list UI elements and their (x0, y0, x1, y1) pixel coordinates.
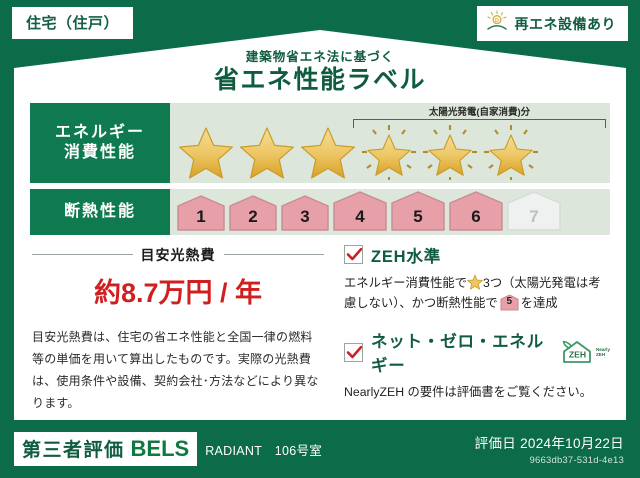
insulation-grade-badge: 3 (280, 194, 330, 232)
insulation-grade-value: 1 (196, 207, 205, 232)
bels-en-text: BELS (131, 436, 190, 462)
footer-right: 評価日 2024年10月22日 9663db37-531d-4e13 (475, 432, 624, 466)
lower-content: 目安光熱費 約8.7万円 / 年 目安光熱費は、住宅の省エネ性能と全国一律の燃料… (30, 243, 610, 415)
renewable-equipment-label: 再エネ設備あり (515, 14, 617, 34)
zeh-desc-part1: エネルギー消費性能で (344, 276, 467, 290)
svg-text:D: D (495, 18, 499, 24)
energy-performance-row: エネルギー 消費性能 太陽光発電(自家消費)分 (30, 103, 610, 183)
checkbox-checked-icon[interactable] (344, 245, 363, 264)
energy-star-rating (176, 123, 606, 181)
energy-performance-label-line1: エネルギー (55, 123, 145, 143)
evaluation-id: 9663db37-531d-4e13 (475, 455, 624, 466)
insulation-performance-value: 1 2 3 4 (170, 189, 610, 235)
insulation-grade-badge: 2 (228, 194, 278, 232)
sun-icon: D (485, 10, 509, 37)
star-solar (359, 123, 419, 181)
star-filled (176, 123, 236, 181)
insulation-grade-badge: 4 (332, 190, 388, 232)
insulation-grade-scale: 1 2 3 4 (176, 190, 562, 232)
utility-cost-value: 約8.7万円 / 年 (32, 271, 324, 310)
insulation-grade-value: 3 (300, 207, 309, 232)
inline-star-icon (467, 274, 483, 290)
star-filled (237, 123, 297, 181)
insulation-performance-label: 断熱性能 (30, 189, 170, 235)
insulation-grade-value: 6 (471, 207, 480, 232)
energy-performance-label-line2: 消費性能 (64, 143, 136, 163)
zeh-desc-part3: を達成 (521, 296, 558, 310)
star-solar (481, 123, 541, 181)
insulation-performance-row: 断熱性能 1 2 (30, 189, 610, 235)
rule-right (224, 254, 325, 255)
house-type-tag-label: 住宅（住戸） (26, 15, 119, 32)
energy-performance-label: エネルギー 消費性能 (30, 103, 170, 183)
net-zero-energy-title: ネット・ゼロ・エネルギー (371, 328, 548, 376)
insulation-grade-value: 2 (248, 207, 257, 232)
svg-text:ZEH: ZEH (569, 350, 586, 360)
insulation-grade-badge: 1 (176, 194, 226, 232)
zeh-standard-title: ZEH水準 (371, 243, 441, 267)
inline-grade-badge: 5 (500, 294, 519, 311)
zeh-standard-description: エネルギー消費性能で3つ（太陽光発電は考慮しない）、かつ断熱性能で5を達成 (344, 273, 610, 315)
checkbox-checked-icon[interactable] (344, 343, 363, 362)
label-subtitle: 建築物省エネ法に基づく (30, 46, 610, 65)
insulation-performance-label-text: 断熱性能 (64, 202, 136, 222)
bels-jp-text: 第三者評価 (22, 435, 125, 462)
zeh-column: ZEH水準 エネルギー消費性能で3つ（太陽光発電は考慮しない）、かつ断熱性能で5… (330, 243, 610, 415)
energy-performance-value: 太陽光発電(自家消費)分 (170, 103, 610, 183)
insulation-grade-value: 4 (355, 207, 364, 232)
evaluation-date: 評価日 2024年10月22日 (475, 432, 624, 452)
zeh-logo-sub: Nearly ZEH (596, 347, 610, 358)
utility-cost-heading-text: 目安光熱費 (141, 245, 216, 265)
bels-logo: 第三者評価 BELS (14, 432, 197, 466)
energy-label-screen: 住宅（住戸） D 再エネ設備あり 建築物省エネ法に基づく (0, 0, 640, 478)
inline-grade-value: 5 (500, 294, 519, 311)
net-zero-energy-description: NearlyZEH の要件は評価書をご覧ください。 (344, 382, 610, 403)
label-footer: 第三者評価 BELS RADIANT 106号室 評価日 2024年10月22日… (0, 420, 640, 478)
footer-left: 第三者評価 BELS RADIANT 106号室 (14, 432, 322, 466)
label-main-title: 省エネ性能ラベル (30, 67, 610, 95)
insulation-grade-value: 5 (413, 207, 422, 232)
insulation-grade-badge: 6 (448, 190, 504, 232)
insulation-grade-badge-inactive: 7 (506, 190, 562, 232)
utility-cost-heading: 目安光熱費 (32, 245, 324, 265)
building-name: RADIANT 106号室 (205, 440, 322, 459)
insulation-grade-value: 7 (529, 207, 538, 232)
zeh-standard-title-row: ZEH水準 (344, 243, 610, 267)
solar-bracket-label: 太陽光発電(自家消費)分 (353, 104, 606, 118)
star-solar (420, 123, 480, 181)
zeh-house-logo-icon: ZEH Nearly ZEH (560, 339, 610, 365)
rule-left (32, 254, 133, 255)
performance-rows: エネルギー 消費性能 太陽光発電(自家消費)分 (30, 103, 610, 235)
net-zero-energy-title-row: ネット・ゼロ・エネルギー ZEH Nearly ZEH (344, 328, 610, 376)
renewable-equipment-badge: D 再エネ設備あり (477, 6, 629, 41)
label-title: 建築物省エネ法に基づく 省エネ性能ラベル (30, 46, 610, 95)
net-zero-energy-block: ネット・ゼロ・エネルギー ZEH Nearly ZEH (344, 328, 610, 403)
utility-cost-note: 目安光熱費は、住宅の省エネ性能と全国一律の燃料等の単価を用いて算出したものです。… (32, 326, 324, 415)
star-filled (298, 123, 358, 181)
zeh-logo-sub-line2: ZEH (596, 352, 610, 357)
insulation-grade-badge: 5 (390, 190, 446, 232)
house-type-tag: 住宅（住戸） (12, 7, 133, 39)
zeh-standard-block: ZEH水準 エネルギー消費性能で3つ（太陽光発電は考慮しない）、かつ断熱性能で5… (344, 243, 610, 315)
utility-cost-column: 目安光熱費 約8.7万円 / 年 目安光熱費は、住宅の省エネ性能と全国一律の燃料… (30, 243, 330, 415)
label-card: 建築物省エネ法に基づく 省エネ性能ラベル エネルギー 消費性能 太陽光発電(自家… (14, 30, 626, 420)
